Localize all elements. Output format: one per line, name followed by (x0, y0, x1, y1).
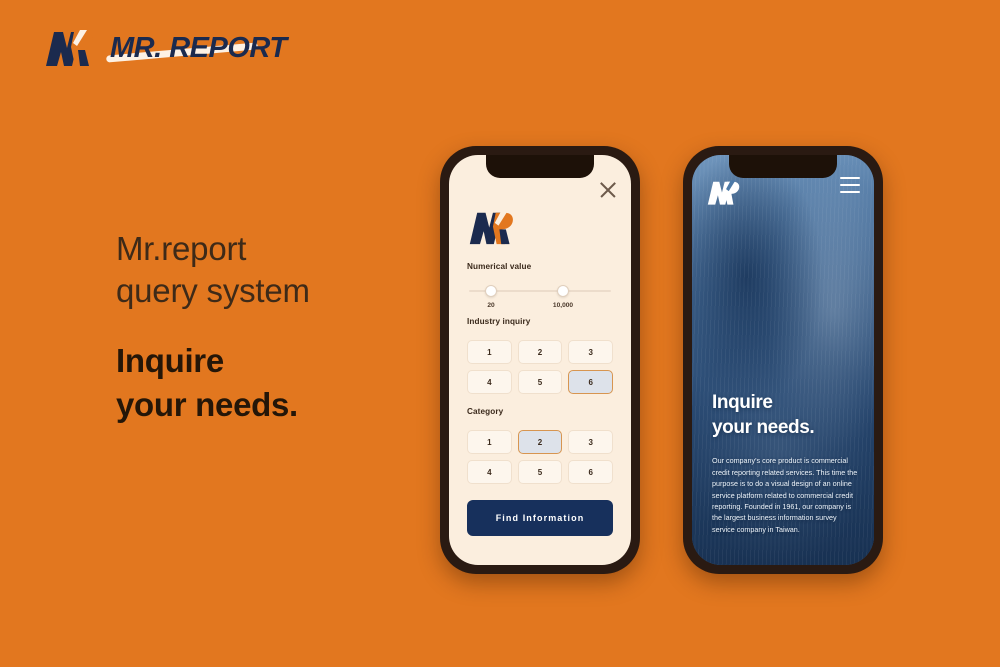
industry-option[interactable]: 2 (518, 340, 563, 364)
phone-mockup-form: Numerical value 20 10,000 Industry inqui… (440, 146, 640, 574)
slider-max-value: 10,000 (553, 302, 573, 309)
category-options: 1 2 3 4 5 6 (467, 430, 613, 484)
category-option[interactable]: 3 (568, 430, 613, 454)
phone-notch (729, 155, 837, 178)
industry-option[interactable]: 5 (518, 370, 563, 394)
numerical-range-slider[interactable]: 20 10,000 (467, 285, 613, 315)
category-label: Category (467, 407, 613, 416)
brand-header: MR. REPORT (44, 28, 287, 68)
industry-option-selected[interactable]: 6 (568, 370, 613, 394)
industry-option[interactable]: 3 (568, 340, 613, 364)
headline-bold: Inquire your needs. (116, 339, 446, 425)
hero-paragraph: Our company's core product is commercial… (712, 455, 860, 535)
mr-report-logo-icon (44, 28, 96, 68)
hero-title-line-2: your needs. (712, 415, 860, 440)
phone-mockup-hero: Inquire your needs. Our company's core p… (683, 146, 883, 574)
headline-light: Mr.report query system (116, 228, 446, 312)
form-screen: Numerical value 20 10,000 Industry inqui… (449, 155, 631, 565)
category-option[interactable]: 1 (467, 430, 512, 454)
close-icon[interactable] (598, 180, 618, 200)
industry-option[interactable]: 4 (467, 370, 512, 394)
category-option[interactable]: 6 (568, 460, 613, 484)
headline-line-4: your needs. (116, 383, 446, 426)
category-option[interactable]: 4 (467, 460, 512, 484)
industry-option[interactable]: 1 (467, 340, 512, 364)
mr-report-logo-white-icon (706, 179, 742, 206)
hamburger-menu-icon[interactable] (840, 177, 860, 193)
slider-min-value: 20 (487, 302, 494, 309)
numerical-value-label: Numerical value (467, 262, 613, 271)
category-option[interactable]: 5 (518, 460, 563, 484)
headline-line-3: Inquire (116, 339, 446, 382)
find-information-button[interactable]: Find Information (467, 500, 613, 536)
hero-screen: Inquire your needs. Our company's core p… (692, 155, 874, 565)
page-headline: Mr.report query system Inquire your need… (116, 228, 446, 426)
brand-wordmark: MR. REPORT (110, 34, 287, 63)
slider-knob-max[interactable] (557, 285, 569, 297)
category-option-selected[interactable]: 2 (518, 430, 563, 454)
headline-line-2: query system (116, 270, 446, 312)
slider-knob-min[interactable] (485, 285, 497, 297)
headline-line-1: Mr.report (116, 228, 446, 270)
form-body: Numerical value 20 10,000 Industry inqui… (449, 155, 631, 484)
hero-title: Inquire your needs. (712, 390, 860, 440)
brand-wordmark-text: MR. REPORT (110, 32, 287, 64)
industry-inquiry-label: Industry inquiry (467, 317, 613, 326)
industry-inquiry-options: 1 2 3 4 5 6 (467, 340, 613, 394)
phone-notch (486, 155, 594, 178)
hero-title-line-1: Inquire (712, 390, 860, 415)
mr-report-logo-icon (467, 209, 517, 246)
hero-copy: Inquire your needs. Our company's core p… (712, 390, 860, 535)
